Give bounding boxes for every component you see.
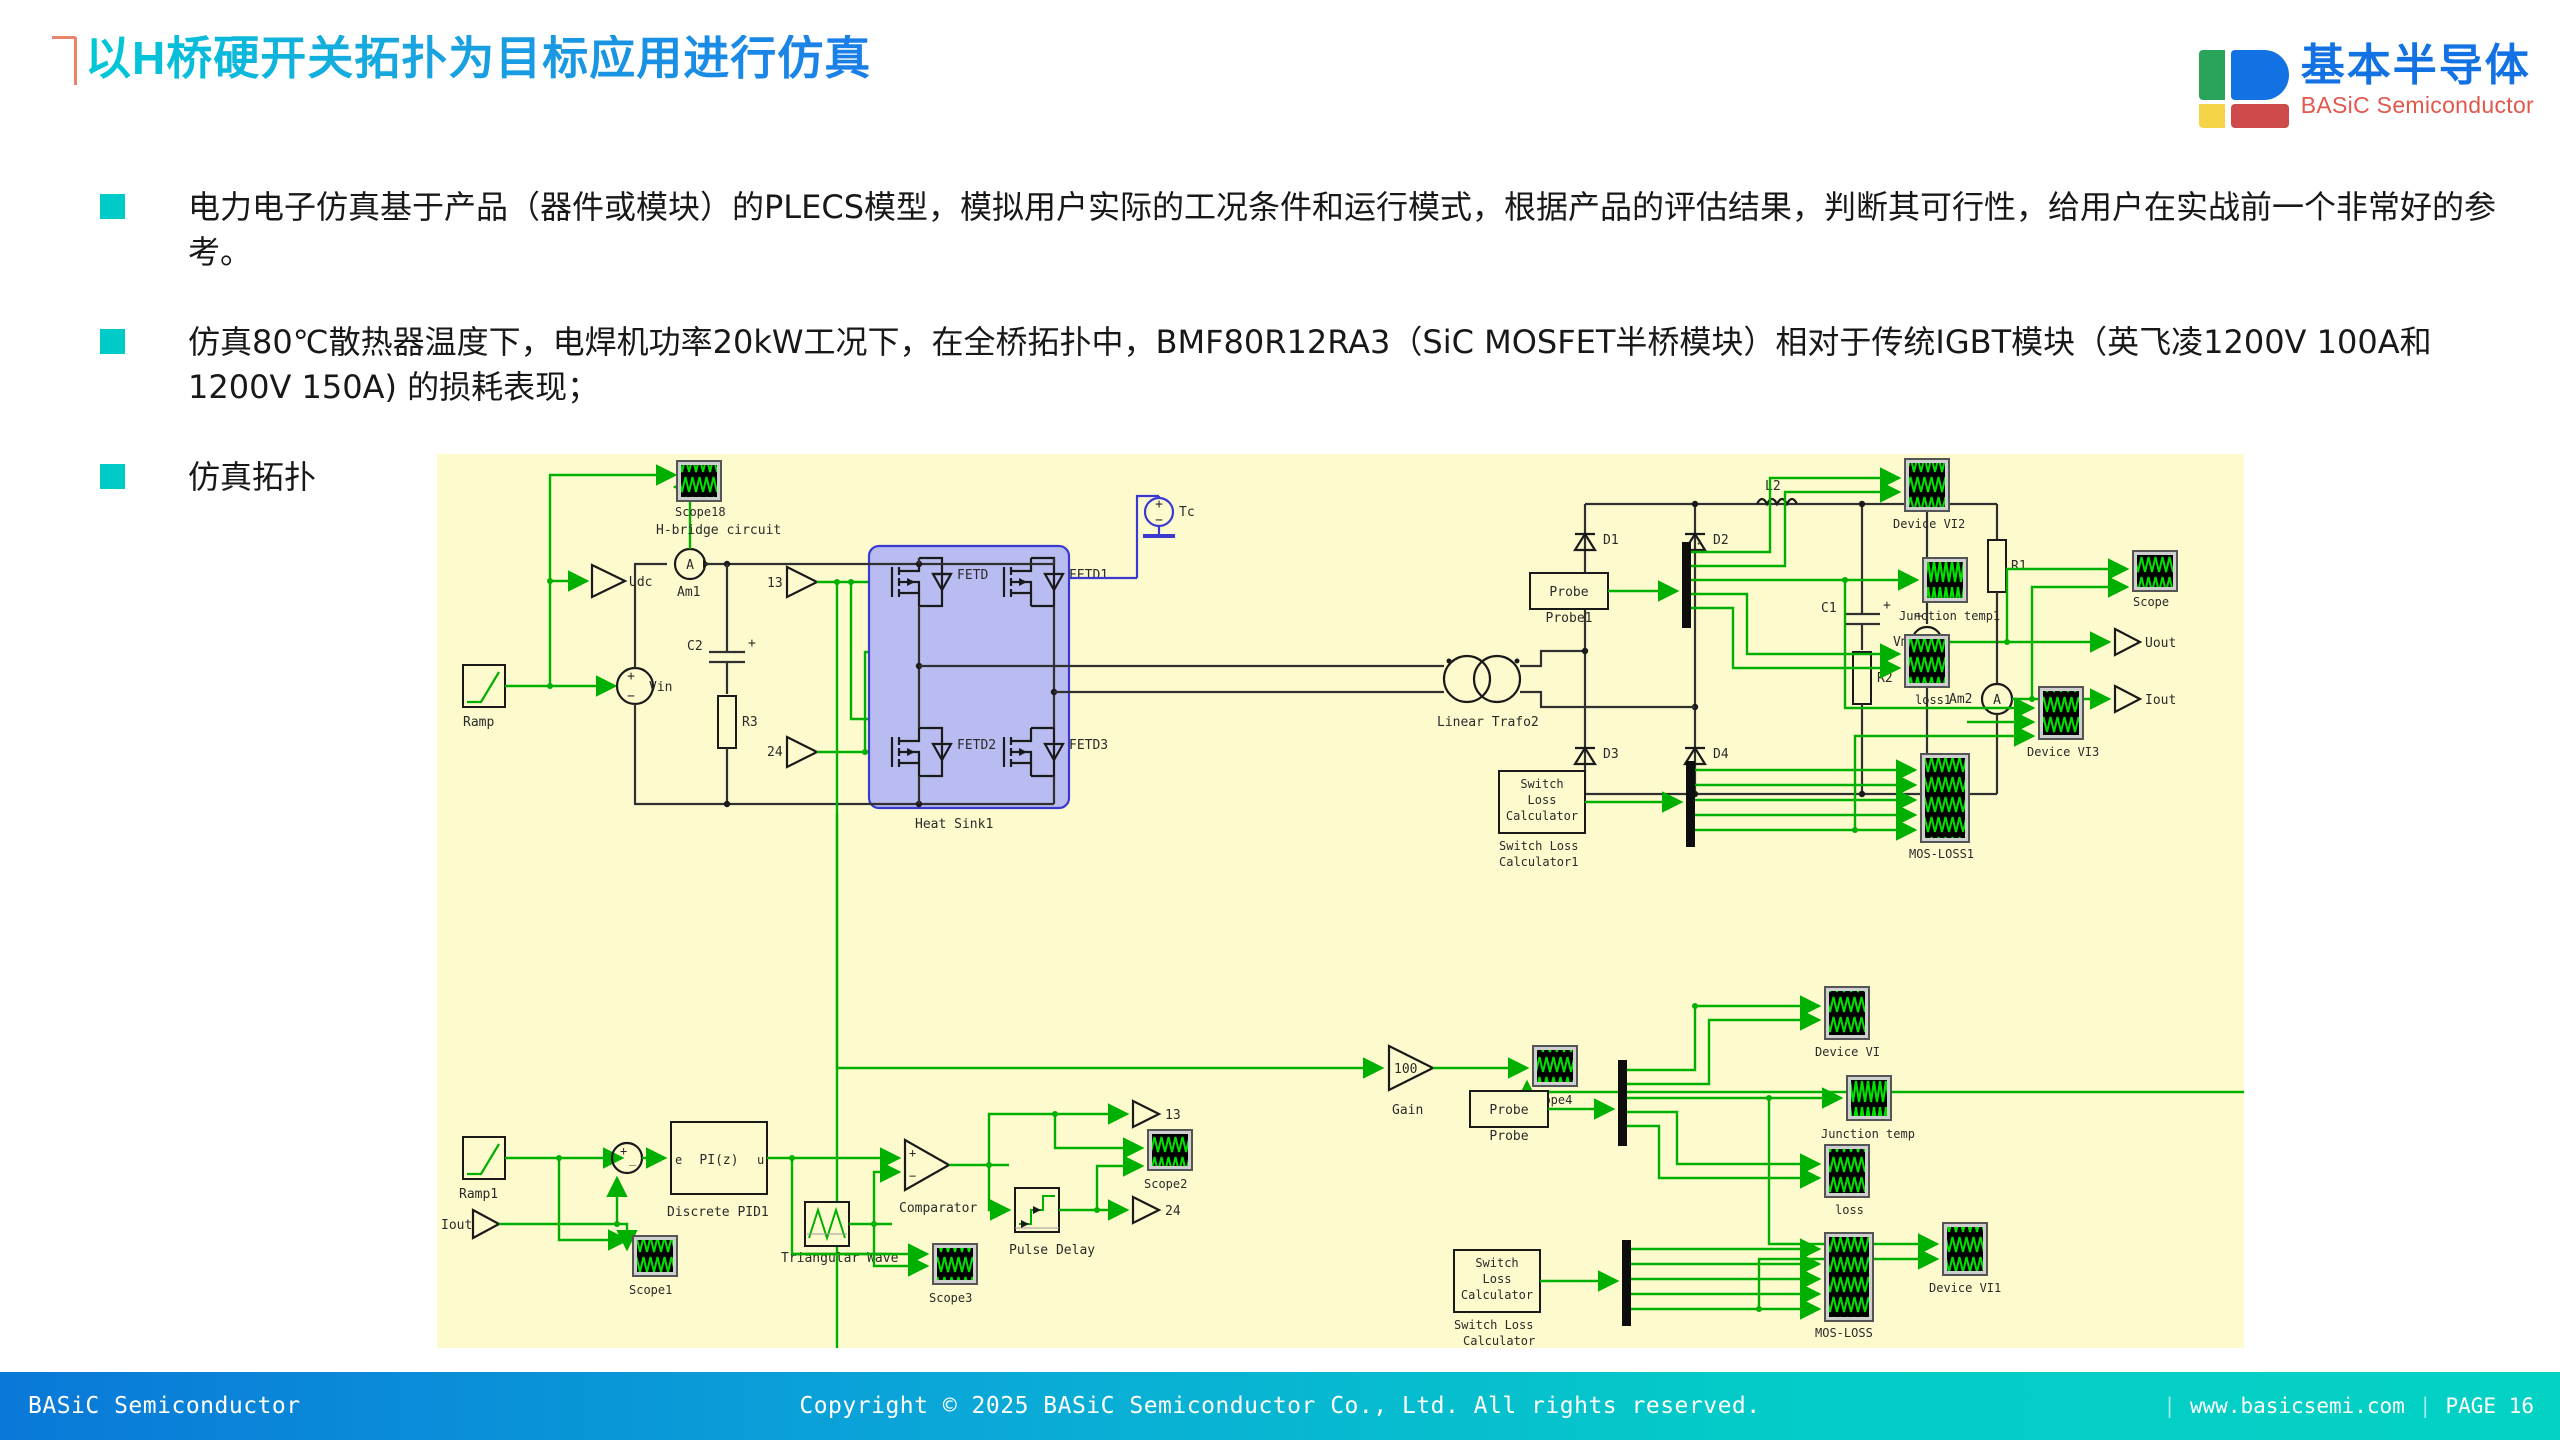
svg-text:100: 100: [1394, 1062, 1417, 1077]
svg-text:Am2: Am2: [1949, 692, 1972, 707]
svg-text:Calculator1: Calculator1: [1499, 855, 1578, 869]
svg-text:FETD3: FETD3: [1069, 738, 1108, 753]
block-scope-output[interactable]: Scope: [2007, 551, 2177, 699]
svg-text:13: 13: [1165, 1108, 1181, 1123]
block-triangular-wave[interactable]: Triangular Wave: [781, 1202, 899, 1266]
input-port-iout[interactable]: Iout: [441, 1210, 499, 1238]
svg-text:+: +: [909, 1146, 916, 1160]
bullet-item-2: 仿真80℃散热器温度下，电焊机功率20kW工况下，在全桥拓扑中，BMF80R12…: [100, 320, 2520, 411]
svg-text:+: +: [748, 636, 756, 651]
svg-text:D2: D2: [1713, 533, 1729, 548]
logo-block-yellow: [2199, 104, 2225, 128]
svg-text:D1: D1: [1603, 533, 1619, 548]
page-title: 以H桥硬开关拓扑为目标应用进行仿真: [85, 35, 871, 81]
bus-bar-upper-loss: [1686, 761, 1695, 847]
block-gain-100[interactable]: 100 Gain: [837, 814, 1433, 1118]
footer-website[interactable]: www.basicsemi.com: [2190, 1394, 2405, 1418]
plecs-schematic-image: .w { stroke:#00b000; stroke-width:2.4; f…: [437, 454, 2244, 1348]
svg-text:Ramp1: Ramp1: [459, 1187, 498, 1202]
svg-text:Calculator: Calculator: [1461, 1288, 1533, 1302]
svg-text:Device VI1: Device VI1: [1929, 1281, 2001, 1295]
block-tc-thermal[interactable]: + − Tc: [1137, 496, 1195, 578]
bullet-item-1: 电力电子仿真基于产品（器件或模块）的PLECS模型，模拟用户实际的工况条件和运行…: [100, 185, 2520, 276]
block-comparator[interactable]: + − Comparator: [899, 1140, 977, 1216]
svg-text:13: 13: [767, 576, 783, 591]
svg-text:24: 24: [1165, 1204, 1181, 1219]
block-vin-source[interactable]: + − Vin: [617, 668, 672, 704]
svg-text:Device VI: Device VI: [1815, 1045, 1880, 1059]
block-mos-loss[interactable]: MOS-LOSS: [1815, 1233, 1873, 1340]
block-device-vi2[interactable]: Device VI2: [1893, 459, 1965, 531]
svg-text:Pulse Delay: Pulse Delay: [1009, 1243, 1095, 1258]
svg-text:+: +: [620, 1144, 627, 1158]
svg-text:−: −: [1155, 513, 1163, 528]
footer-divider-1: |: [2163, 1394, 2176, 1418]
square-bullet-icon: [100, 329, 125, 354]
svg-text:D4: D4: [1713, 747, 1729, 762]
block-loss[interactable]: loss: [1825, 1145, 1869, 1217]
svg-text:Scope1: Scope1: [629, 1283, 672, 1297]
svg-text:Switch Loss: Switch Loss: [1454, 1318, 1533, 1332]
svg-text:Device VI3: Device VI3: [2027, 745, 2099, 759]
gate-input-13[interactable]: 13: [767, 567, 817, 597]
block-r2-resistor[interactable]: R2: [1853, 652, 1893, 794]
svg-text:MOS-LOSS1: MOS-LOSS1: [1909, 847, 1974, 861]
block-ramp[interactable]: Ramp: [463, 665, 505, 730]
svg-text:Switch: Switch: [1520, 777, 1563, 791]
block-device-vi3[interactable]: Device VI3: [2027, 687, 2099, 759]
svg-text:Vin: Vin: [649, 680, 672, 695]
corner-bracket-icon: [52, 36, 77, 85]
gate-input-24[interactable]: 24: [767, 737, 817, 767]
svg-text:Switch Loss: Switch Loss: [1499, 839, 1578, 853]
block-scope1[interactable]: Scope1: [629, 1236, 677, 1297]
svg-text:Calculator: Calculator: [1506, 809, 1578, 823]
logo-text-en: BASiC Semiconductor: [2301, 94, 2534, 117]
block-linear-trafo2[interactable]: Linear Trafo2: [1342, 651, 1585, 730]
svg-text:R1: R1: [2011, 559, 2027, 574]
svg-text:_: _: [629, 1152, 637, 1166]
svg-text:Linear Trafo2: Linear Trafo2: [1437, 715, 1539, 730]
block-probe1[interactable]: Probe Probe1: [1530, 573, 1608, 626]
svg-text:loss1: loss1: [1915, 693, 1951, 707]
block-scope3[interactable]: Scope3: [929, 1244, 977, 1305]
block-heat-sink1[interactable]: Heat Sink1: [869, 546, 1069, 832]
square-bullet-icon: [100, 194, 125, 219]
svg-text:L2: L2: [1765, 479, 1781, 494]
svg-text:Gain: Gain: [1392, 1103, 1423, 1118]
block-discrete-pid1[interactable]: PI(z) e u Discrete PID1: [667, 1122, 769, 1220]
bus-bar-lower: [1618, 1060, 1627, 1146]
block-junction-temp1[interactable]: Junction temp1: [1899, 558, 2000, 623]
bullet-text-2: 仿真80℃散热器温度下，电焊机功率20kW工况下，在全桥拓扑中，BMF80R12…: [188, 320, 2520, 411]
svg-text:Loss: Loss: [1483, 1272, 1512, 1286]
svg-text:Calculator: Calculator: [1463, 1334, 1535, 1348]
svg-text:MOS-LOSS: MOS-LOSS: [1815, 1326, 1873, 1340]
svg-text:−: −: [909, 1169, 916, 1183]
block-pulse-delay[interactable]: Pulse Delay: [1009, 1188, 1095, 1258]
svg-text:FETD1: FETD1: [1069, 568, 1108, 583]
page-header: 以H桥硬开关拓扑为目标应用进行仿真: [52, 30, 871, 85]
svg-text:C1: C1: [1821, 601, 1837, 616]
block-ramp1[interactable]: Ramp1: [459, 1137, 505, 1202]
svg-text:Iout: Iout: [441, 1218, 472, 1233]
block-mos-loss1[interactable]: MOS-LOSS1: [1909, 754, 1974, 861]
block-switch-loss-calculator1[interactable]: Switch Loss Calculator Switch Loss Calcu…: [1499, 771, 1585, 869]
svg-text:Uout: Uout: [2145, 636, 2176, 651]
svg-text:Scope2: Scope2: [1144, 1177, 1187, 1191]
svg-text:Udc: Udc: [629, 575, 652, 590]
svg-text:loss: loss: [1835, 1203, 1864, 1217]
svg-text:Scope18: Scope18: [675, 505, 726, 519]
logo-block-red: [2231, 104, 2289, 128]
svg-text:FETD2: FETD2: [957, 738, 996, 753]
svg-text:Scope: Scope: [2133, 595, 2169, 609]
svg-text:R3: R3: [742, 715, 758, 730]
svg-text:Comparator: Comparator: [899, 1201, 977, 1216]
logo-block-green: [2199, 50, 2225, 100]
svg-text:H-bridge circuit: H-bridge circuit: [656, 523, 781, 538]
svg-text:+: +: [1883, 598, 1891, 613]
block-c1-capacitor[interactable]: C1 +: [1821, 504, 1891, 650]
block-device-vi1[interactable]: Device VI1: [1929, 1223, 2001, 1295]
svg-text:D3: D3: [1603, 747, 1619, 762]
svg-text:24: 24: [767, 745, 783, 760]
svg-text:Probe: Probe: [1489, 1129, 1528, 1144]
svg-text:Device VI2: Device VI2: [1893, 517, 1965, 531]
svg-text:FETD: FETD: [957, 568, 988, 583]
output-port-24[interactable]: 24: [1133, 1197, 1181, 1223]
svg-text:C2: C2: [687, 639, 703, 654]
svg-text:−: −: [627, 689, 635, 704]
svg-text:u: u: [757, 1153, 764, 1167]
logo-block-blue: [2231, 50, 2289, 100]
basic-semiconductor-logo-icon: [2199, 34, 2289, 126]
block-loss1[interactable]: loss1: [1905, 635, 1951, 707]
block-junction-temp[interactable]: Junction temp: [1821, 1076, 1915, 1141]
block-scope2[interactable]: Scope2: [1144, 1130, 1192, 1191]
footer-divider-2: |: [2419, 1394, 2432, 1418]
svg-text:e: e: [675, 1153, 682, 1167]
svg-text:Am1: Am1: [677, 585, 700, 600]
svg-text:Switch: Switch: [1475, 1256, 1518, 1270]
svg-text:R2: R2: [1877, 671, 1893, 686]
bus-bar-lower-loss: [1622, 1240, 1631, 1326]
footer-page-number: PAGE 16: [2445, 1394, 2534, 1418]
brand-logo: 基本半导体 BASiC Semiconductor: [2199, 34, 2534, 126]
svg-text:+: +: [627, 669, 635, 684]
svg-text:+: +: [1155, 497, 1163, 512]
bullet-text-1: 电力电子仿真基于产品（器件或模块）的PLECS模型，模拟用户实际的工况条件和运行…: [188, 185, 2520, 276]
svg-text:·: ·: [1695, 537, 1702, 551]
svg-text:Iout: Iout: [2145, 693, 2176, 708]
block-am1-ammeter[interactable]: A Am1: [675, 549, 710, 600]
svg-text:Heat Sink1: Heat Sink1: [915, 817, 993, 832]
bullet-text-3: 仿真拓扑: [188, 455, 316, 500]
svg-text:A: A: [1993, 693, 2001, 708]
svg-text:Junction temp: Junction temp: [1821, 1127, 1915, 1141]
svg-text:Probe: Probe: [1549, 585, 1588, 600]
svg-text:Tc: Tc: [1179, 505, 1195, 520]
svg-text:PI(z): PI(z): [699, 1153, 738, 1168]
page-footer: BASiC Semiconductor Copyright © 2025 BAS…: [0, 1372, 2560, 1440]
svg-text:Probe: Probe: [1489, 1103, 1528, 1118]
svg-text:Discrete PID1: Discrete PID1: [667, 1205, 769, 1220]
footer-brand: BASiC Semiconductor: [28, 1393, 301, 1419]
block-probe[interactable]: Probe Probe: [1470, 1091, 1548, 1144]
block-r3-resistor[interactable]: R3: [718, 696, 758, 804]
block-c2-capacitor[interactable]: C2 +: [687, 564, 756, 694]
svg-text:A: A: [686, 558, 694, 573]
block-udc-gain[interactable]: Udc: [592, 565, 652, 597]
svg-text:Scope3: Scope3: [929, 1291, 972, 1305]
svg-text:Probe1: Probe1: [1546, 611, 1593, 626]
square-bullet-icon: [100, 464, 125, 489]
footer-copyright: Copyright © 2025 BASiC Semiconductor Co.…: [799, 1393, 1760, 1419]
logo-text-cn: 基本半导体: [2301, 44, 2534, 88]
svg-text:Junction temp1: Junction temp1: [1899, 609, 2000, 623]
svg-text:Ramp: Ramp: [463, 715, 494, 730]
block-switch-loss-calculator[interactable]: Switch Loss Calculator Switch Loss Calcu…: [1454, 1250, 1540, 1348]
block-device-vi[interactable]: Device VI: [1815, 987, 1880, 1059]
svg-text:Loss: Loss: [1528, 793, 1557, 807]
block-scope18[interactable]: Scope18 H-bridge circuit: [656, 461, 781, 538]
output-port-uout[interactable]: Uout: [2077, 629, 2176, 655]
